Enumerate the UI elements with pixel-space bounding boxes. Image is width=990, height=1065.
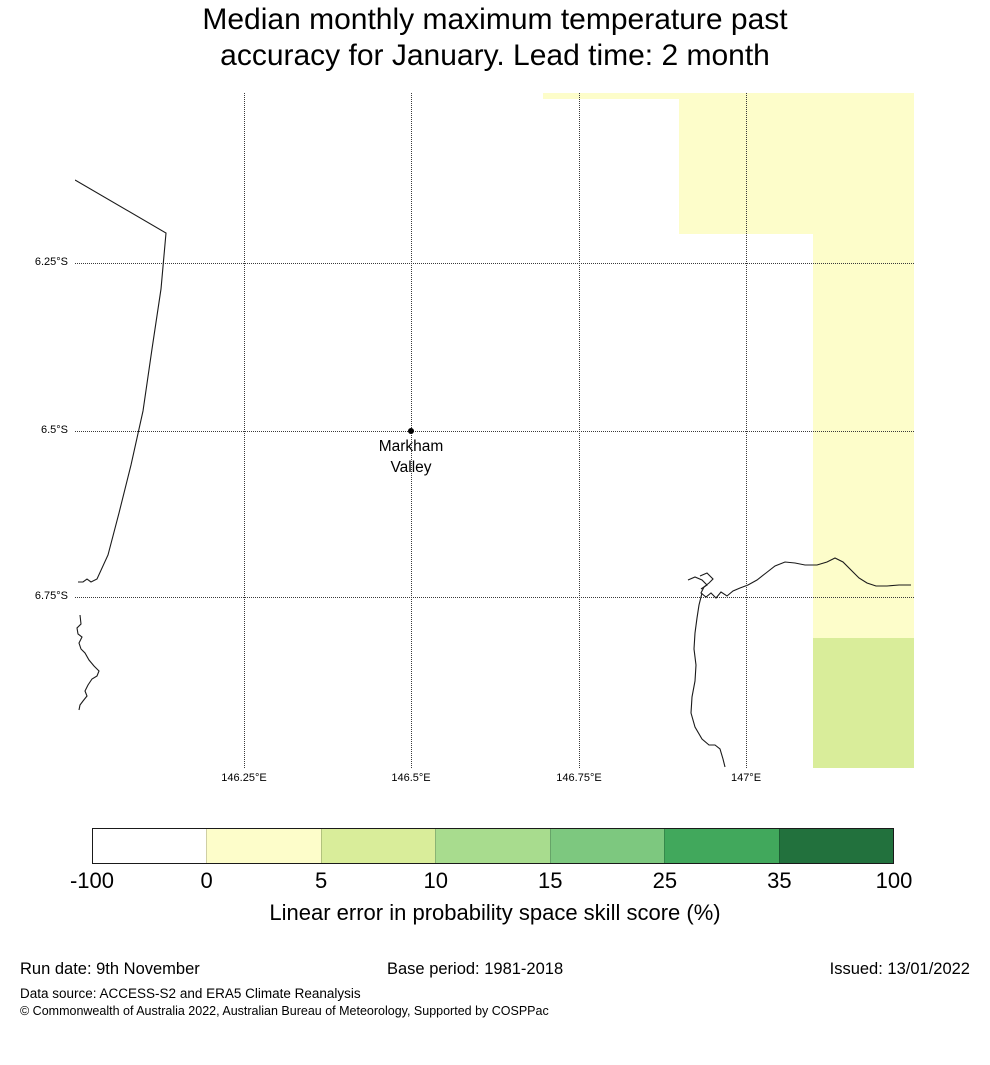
footer: Run date: 9th November Base period: 1981…	[0, 960, 990, 1030]
colorbar-tick-0: -100	[70, 868, 114, 894]
y-tick-label-0: 6.25°S	[35, 256, 68, 268]
x-tick-label-1: 146.5°E	[391, 772, 430, 784]
colorbar-tick-2: 5	[315, 868, 327, 894]
x-tick-label-0: 146.25°E	[221, 772, 266, 784]
y-tick-label-1: 6.5°S	[41, 424, 68, 436]
coastline-east-west-side	[691, 593, 725, 767]
y-axis-tick-labels: 6.25°S6.5°S6.75°S	[0, 93, 68, 768]
colorbar-tick-3: 10	[423, 868, 447, 894]
city-label-line-2: Valley	[390, 459, 431, 476]
map-plot-area: Markham Valley	[75, 93, 914, 768]
colorbar-swatch-35-to-100	[779, 829, 893, 863]
forecast-map-page: Median monthly maximum temperature past …	[0, 0, 990, 1065]
city-label-line-1: Markham	[379, 438, 444, 455]
footer-meta-row: Run date: 9th November Base period: 1981…	[20, 960, 970, 982]
coastline-east-cape	[688, 577, 707, 589]
run-date-text: Run date: 9th November	[20, 960, 200, 979]
colorbar-tick-5: 25	[653, 868, 677, 894]
colorbar-swatch-15-to-25	[550, 829, 664, 863]
page-title: Median monthly maximum temperature past …	[0, 0, 990, 74]
x-tick-label-3: 147°E	[731, 772, 761, 784]
colorbar-tick-labels: -1000510152535100	[92, 868, 894, 894]
colorbar	[92, 828, 894, 864]
colorbar-swatch-0-to-5	[206, 829, 320, 863]
colorbar-tick-7: 100	[876, 868, 913, 894]
city-label-markham-valley: Markham Valley	[379, 436, 444, 478]
city-marker-markham-valley[interactable]	[408, 428, 414, 434]
colorbar-swatches	[92, 828, 894, 864]
colorbar-swatch-10-to-15	[435, 829, 549, 863]
colorbar-tick-4: 15	[538, 868, 562, 894]
coastline-west	[75, 180, 166, 582]
coastline-east-north	[700, 558, 911, 598]
coastline-overlay	[75, 93, 914, 768]
x-axis-tick-labels: 146.25°E146.5°E146.75°E147°E	[75, 772, 914, 790]
colorbar-swatch--100-to-0	[93, 829, 206, 863]
colorbar-swatch-5-to-10	[321, 829, 435, 863]
issued-date-text: Issued: 13/01/2022	[830, 960, 970, 979]
x-tick-label-2: 146.75°E	[556, 772, 601, 784]
colorbar-tick-1: 0	[200, 868, 212, 894]
copyright-text: © Commonwealth of Australia 2022, Austra…	[20, 1004, 549, 1019]
coastline-southwest-island	[77, 615, 99, 710]
colorbar-swatch-25-to-35	[664, 829, 778, 863]
page-title-line-1: Median monthly maximum temperature past	[0, 2, 990, 38]
data-source-text: Data source: ACCESS-S2 and ERA5 Climate …	[20, 986, 361, 1002]
base-period-text: Base period: 1981-2018	[387, 960, 563, 979]
colorbar-tick-6: 35	[767, 868, 791, 894]
y-tick-label-2: 6.75°S	[35, 590, 68, 602]
colorbar-title: Linear error in probability space skill …	[0, 900, 990, 926]
page-title-line-2: accuracy for January. Lead time: 2 month	[0, 38, 990, 74]
